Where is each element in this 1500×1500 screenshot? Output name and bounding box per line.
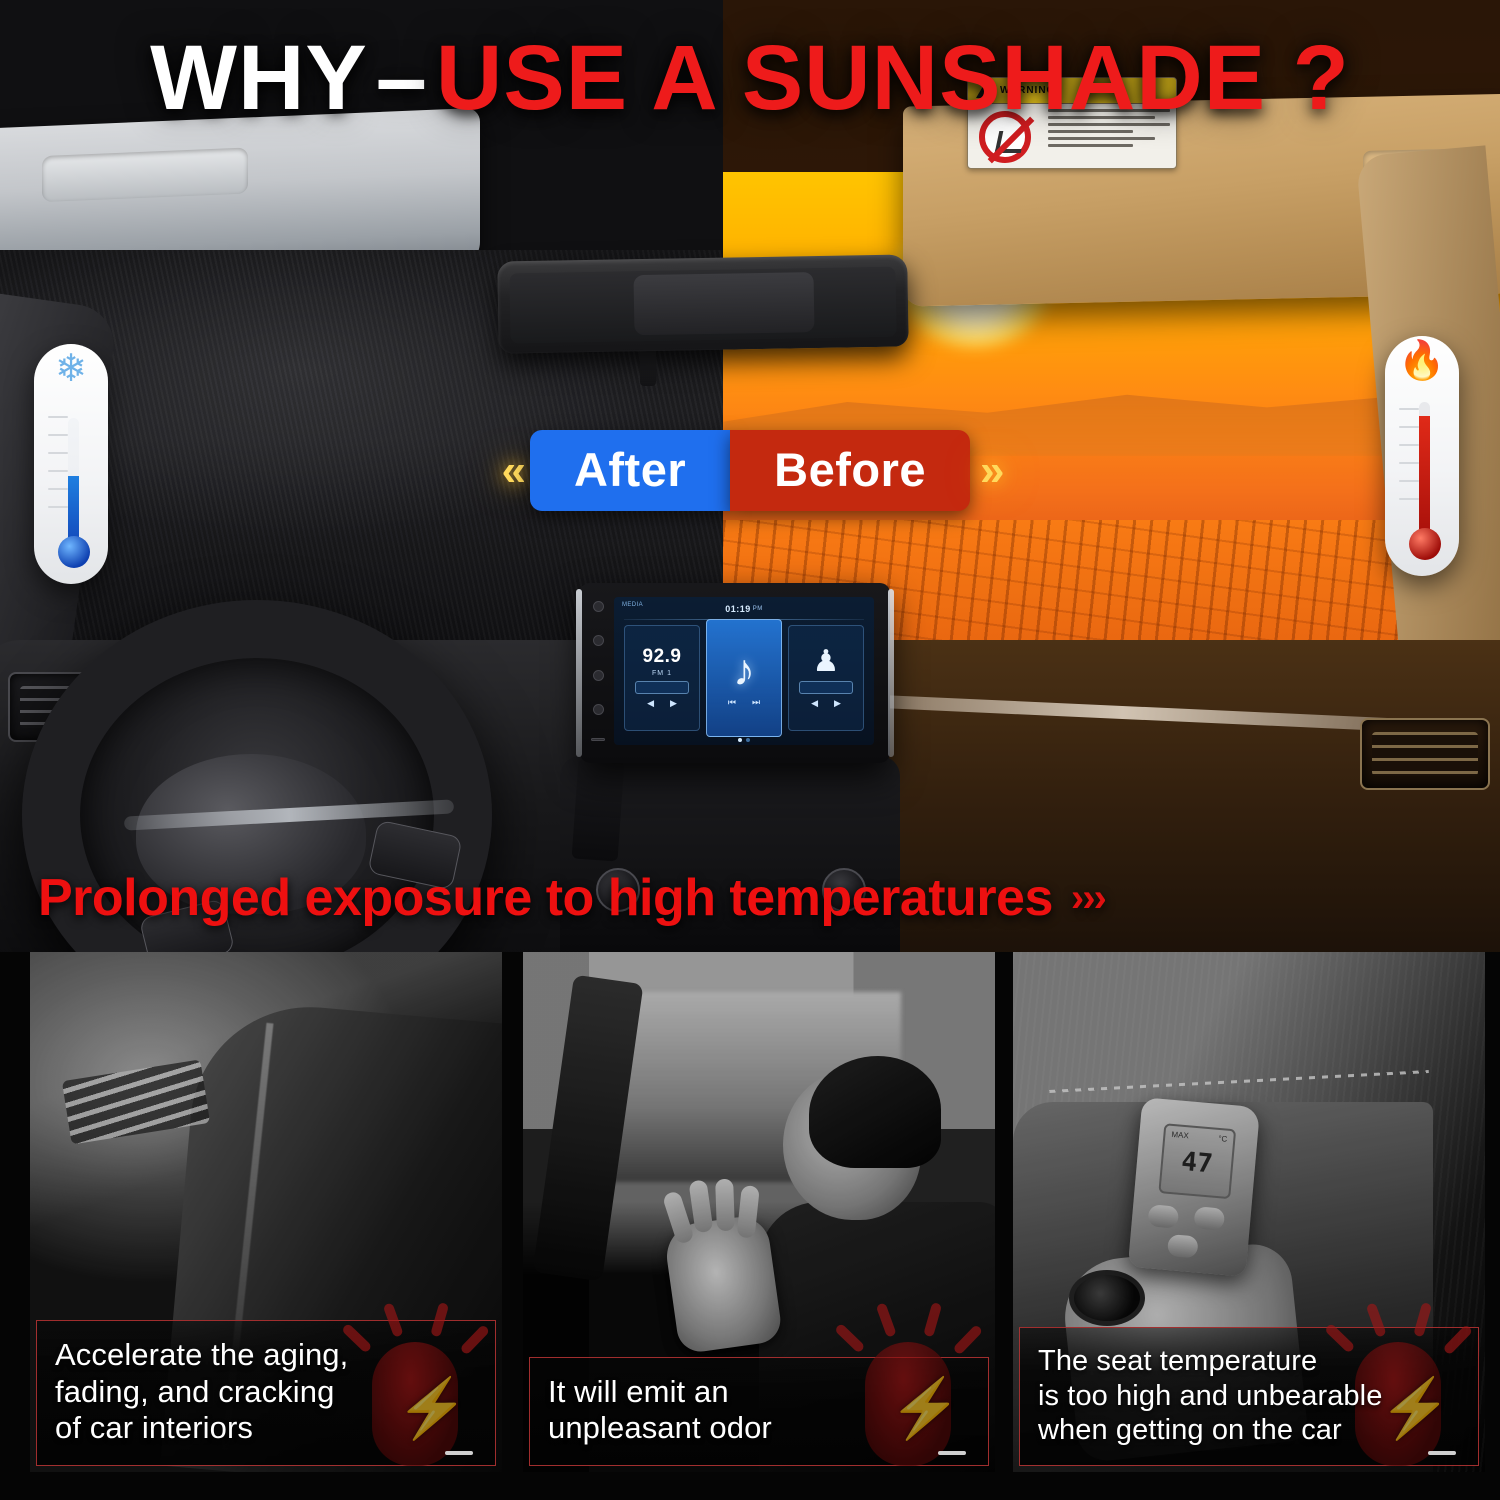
person-hair (809, 1056, 941, 1168)
before-after-hero: WARNING (0, 0, 1500, 952)
after-badge[interactable]: After (530, 430, 730, 511)
panel-unpleasant-odor: ⚡ It will emit an unpleasant odor (523, 952, 995, 1472)
phone-prev-icon[interactable]: ◀ (811, 698, 818, 709)
headline-part2: USE A SUNSHADE ? (436, 27, 1350, 129)
caption-line: when getting on the car (1038, 1413, 1460, 1447)
phone-controls: ◀ ▶ (811, 698, 841, 709)
radio-band: FM 1 (652, 670, 672, 677)
head-unit-key-menu[interactable] (593, 670, 604, 681)
seat-stitching (1049, 1070, 1429, 1093)
before-badge[interactable]: Before (730, 430, 970, 511)
person-hand (663, 1213, 784, 1354)
radio-preset-pill[interactable] (635, 681, 689, 694)
phone-tile[interactable]: ♟ ◀ ▶ (788, 625, 864, 731)
status-bar: 01:19 PM (614, 601, 874, 617)
infotainment-head-unit: MEDIA 01:19 PM 92.9 FM 1 ◀ ▶ (580, 583, 890, 763)
home-tiles: 92.9 FM 1 ◀ ▶ ♪ ⏮ ⏭ (624, 625, 864, 731)
heat-warning-banner: Prolonged exposure to high temperatures … (38, 872, 1105, 924)
caption-line: It will emit an (548, 1374, 970, 1411)
media-next-icon[interactable]: ⏭ (752, 697, 760, 708)
caption-line: The seat temperature (1038, 1344, 1460, 1378)
wristwatch (1069, 1270, 1145, 1326)
thermometer-button-mode[interactable] (1167, 1234, 1199, 1259)
panel-caption: It will emit an unpleasant odor (529, 1357, 989, 1466)
head-unit-key-volume[interactable] (593, 635, 604, 646)
thermometer-display: MAX °C 47 (1158, 1123, 1236, 1199)
thermometer-bulb-hot (1409, 528, 1441, 560)
music-note-icon: ♪ (733, 649, 755, 693)
clock: 01:19 (725, 604, 751, 614)
phone-next-icon[interactable]: ▶ (834, 698, 841, 709)
thermometer-unit: °C (1218, 1134, 1228, 1144)
media-prev-icon[interactable]: ⏮ (728, 697, 736, 708)
thermometer-mode: MAX (1171, 1130, 1189, 1140)
page-title: WHY–USE A SUNSHADE ? (0, 32, 1500, 124)
caption-line: of car interiors (55, 1410, 477, 1447)
reflected-headrest (633, 272, 814, 335)
radio-controls: ◀ ▶ (647, 698, 677, 709)
flame-icon: 🔥 (1385, 342, 1459, 380)
radio-frequency: 92.9 (643, 647, 682, 666)
infotainment-screen[interactable]: MEDIA 01:19 PM 92.9 FM 1 ◀ ▶ (614, 597, 874, 745)
head-unit-key-bar[interactable] (591, 738, 605, 741)
media-controls: ⏮ ⏭ (728, 697, 760, 708)
panel-caption: The seat temperature is too high and unb… (1019, 1327, 1479, 1466)
caption-line: Accelerate the aging, (55, 1337, 477, 1374)
caption-dash (445, 1451, 473, 1455)
infrared-thermometer: MAX °C 47 (1128, 1097, 1260, 1277)
dash-vent-shape (62, 1059, 210, 1144)
phone-pill[interactable] (799, 681, 853, 694)
head-unit-key-apps[interactable] (593, 704, 604, 715)
head-unit-trim-right (888, 589, 894, 757)
head-unit-mount (572, 759, 625, 862)
caption-line: is too high and unbearable (1038, 1379, 1460, 1413)
caption-line: fading, and cracking (55, 1374, 477, 1411)
product-infographic: WARNING (0, 0, 1500, 1500)
radio-next-icon[interactable]: ▶ (670, 698, 677, 709)
head-unit-trim-left (576, 589, 582, 757)
page-indicator (614, 738, 874, 742)
chevron-right-icon: » (980, 449, 998, 493)
headline-dash: – (368, 27, 436, 129)
person-icon: ♟ (813, 647, 840, 677)
thermometer-bulb-cold (58, 536, 90, 568)
panel-caption: Accelerate the aging, fading, and cracki… (36, 1320, 496, 1466)
thermometer-reading: 47 (1162, 1147, 1232, 1179)
snowflake-icon: ❄ (34, 350, 108, 388)
panel-aging-fading-cracking: ⚡ Accelerate the aging, fading, and crac… (30, 952, 502, 1472)
panel-seat-temperature: MAX °C 47 ⚡ The seat te (1013, 952, 1485, 1472)
chevron-left-icon: « (501, 449, 519, 493)
caption-dash (1428, 1451, 1456, 1455)
radio-prev-icon[interactable]: ◀ (647, 698, 654, 709)
caption-dash (938, 1451, 966, 1455)
clock-ampm: PM (753, 606, 763, 612)
heat-warning-text: Prolonged exposure to high temperatures (38, 872, 1053, 924)
media-tile[interactable]: ♪ ⏮ ⏭ (706, 619, 782, 737)
consequence-panels: ⚡ Accelerate the aging, fading, and crac… (0, 952, 1500, 1500)
head-unit-side-keys (588, 601, 608, 741)
air-vent-right (1360, 718, 1490, 790)
thermometer-button-left[interactable] (1147, 1204, 1179, 1229)
rear-view-mirror (497, 254, 909, 353)
radio-tile[interactable]: 92.9 FM 1 ◀ ▶ (624, 625, 700, 731)
head-unit-key-power[interactable] (593, 601, 604, 612)
caption-line: unpleasant odor (548, 1410, 970, 1447)
thermometer-button-right[interactable] (1193, 1206, 1225, 1231)
banner-arrows-icon: ››› (1071, 878, 1105, 918)
before-after-toggle: « After Before » (0, 430, 1500, 511)
headline-part1: WHY (150, 27, 368, 129)
